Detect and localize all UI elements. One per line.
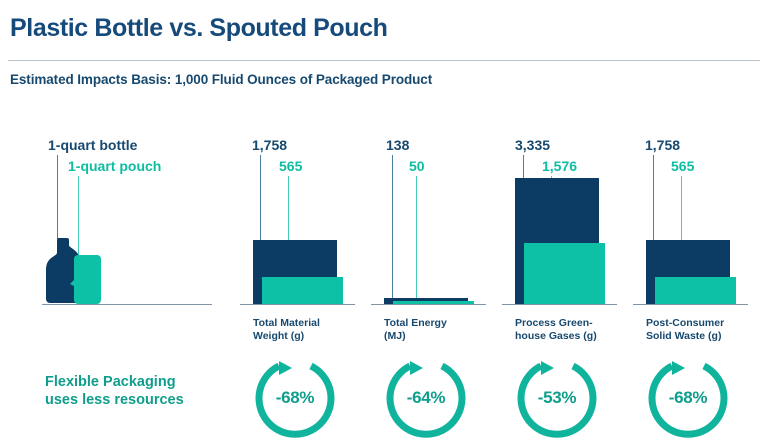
legend-baseline bbox=[42, 304, 212, 305]
bar-pouch bbox=[655, 277, 736, 304]
category-label-line2: (MJ) bbox=[384, 330, 406, 342]
bar-pouch bbox=[524, 243, 605, 304]
category-label-line2: Weight (g) bbox=[253, 330, 304, 342]
category-label: Total Energy (MJ) bbox=[384, 317, 447, 343]
legend-label-pouch: 1-quart pouch bbox=[68, 158, 161, 174]
value-leader-bottle bbox=[392, 155, 393, 298]
bar-value-pouch: 565 bbox=[671, 158, 694, 174]
reduction-value: -64% bbox=[384, 356, 468, 440]
bar-value-pouch: 565 bbox=[279, 158, 302, 174]
group-baseline bbox=[371, 304, 486, 305]
bar-value-bottle: 3,335 bbox=[515, 137, 550, 153]
reduction-value: -68% bbox=[646, 356, 730, 440]
value-leader-pouch bbox=[416, 176, 417, 301]
category-label-line1: Total Energy bbox=[384, 317, 447, 329]
value-leader-bottle bbox=[523, 155, 524, 178]
category-label: Total Material Weight (g) bbox=[253, 317, 320, 343]
group-baseline bbox=[502, 304, 617, 305]
category-label-line2: Solid Waste (g) bbox=[646, 330, 721, 342]
category-label-line1: Post-Consumer bbox=[646, 317, 724, 329]
spouted-pouch-icon bbox=[70, 255, 101, 304]
bar-value-pouch: 50 bbox=[409, 158, 425, 174]
reduction-stat-total-energy: -64% bbox=[384, 356, 468, 440]
reduction-stat-total-material-weight: -68% bbox=[253, 356, 337, 440]
reduction-stat-process-greenhouse-gases: -53% bbox=[515, 356, 599, 440]
category-label-line1: Total Material bbox=[253, 317, 320, 329]
bar-value-bottle: 138 bbox=[386, 137, 409, 153]
legend-leader-bottle bbox=[57, 155, 58, 245]
value-leader-bottle bbox=[260, 155, 261, 240]
footer-message-line1: Flexible Packaging bbox=[45, 374, 176, 390]
category-label: Post-Consumer Solid Waste (g) bbox=[646, 317, 724, 343]
footer-message-line2: uses less resources bbox=[45, 392, 184, 408]
category-label: Process Green- house Gases (g) bbox=[515, 317, 597, 343]
legend-label-bottle: 1-quart bottle bbox=[48, 137, 137, 153]
bar-value-bottle: 1,758 bbox=[252, 137, 287, 153]
category-label-line2: house Gases (g) bbox=[515, 330, 597, 342]
reduction-value: -68% bbox=[253, 356, 337, 440]
bar-value-bottle: 1,758 bbox=[645, 137, 680, 153]
value-leader-bottle bbox=[653, 155, 654, 240]
group-baseline bbox=[633, 304, 748, 305]
reduction-stat-post-consumer-solid-waste: -68% bbox=[646, 356, 730, 440]
group-baseline bbox=[240, 304, 355, 305]
bar-pouch bbox=[262, 277, 343, 304]
footer-message: Flexible Packaging uses less resources bbox=[45, 373, 184, 409]
category-label-line1: Process Green- bbox=[515, 317, 593, 329]
reduction-value: -53% bbox=[515, 356, 599, 440]
bar-value-pouch: 1,576 bbox=[542, 158, 577, 174]
